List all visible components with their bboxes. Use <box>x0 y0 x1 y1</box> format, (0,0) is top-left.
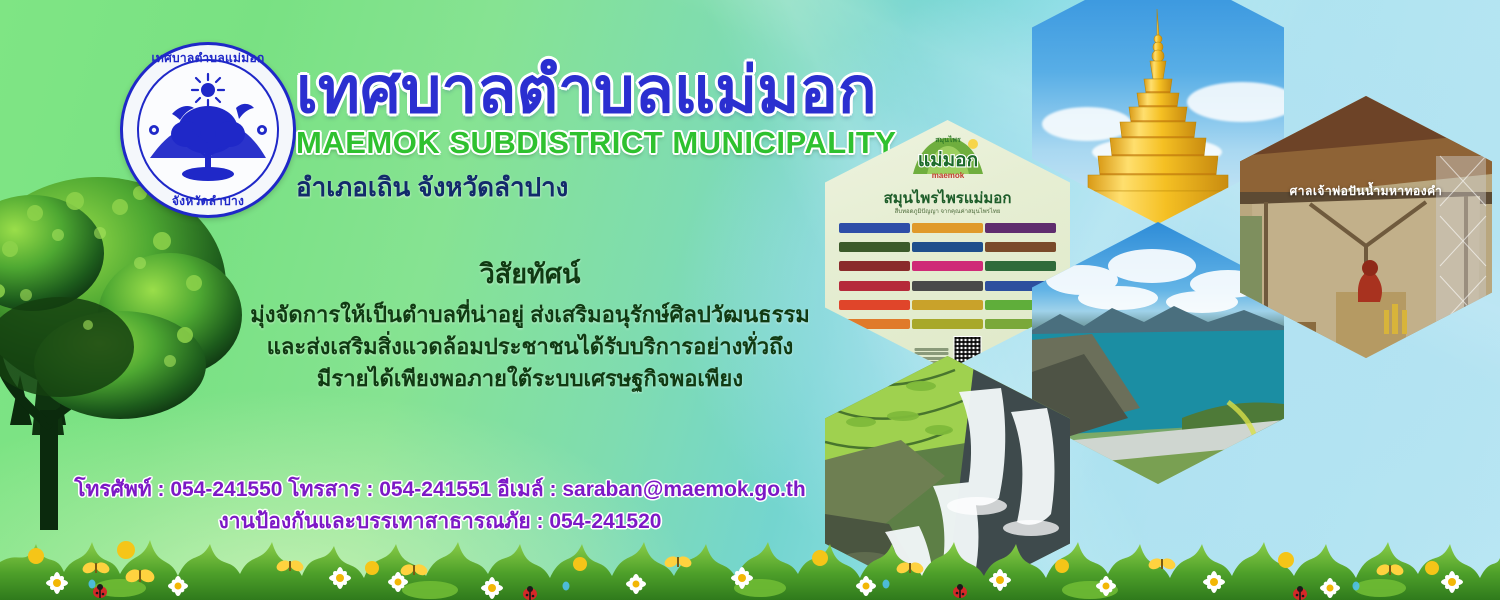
seal-top-text: เทศบาลตำบลแม่มอก <box>120 49 296 68</box>
herb-poster-subheading: สืบทอดภูมิปัญญา จากคุณค่าสมุนไพรไทย <box>825 206 1070 216</box>
vision-line-1: มุ่งจัดการให้เป็นตำบลที่น่าอยู่ ส่งเสริม… <box>200 299 860 331</box>
svg-text:แม่มอก: แม่มอก <box>917 150 977 171</box>
vision-statement: วิสัยทัศน์ มุ่งจัดการให้เป็นตำบลที่น่าอย… <box>200 252 860 395</box>
herb-brand-logo-icon: สมุนไพร แม่มอก maemok <box>893 130 1003 188</box>
municipality-banner: เทศบาลตำบลแม่มอก จังหวัดลำปาง <box>0 0 1500 600</box>
svg-text:maemok: maemok <box>931 171 964 180</box>
vision-line-3: มีรายได้เพียงพอภายใต้ระบบเศรษฐกิจพอเพียง <box>200 363 860 395</box>
contact-line-phone-fax-email[interactable]: โทรศัพท์ : 054-241550 โทรสาร : 054-24155… <box>60 474 820 506</box>
seal-emblem-art <box>146 72 270 188</box>
hexagon-photo-cluster: สมุนไพร แม่มอก maemok สมุนไพรไพรแม่มอก ส… <box>800 0 1500 600</box>
shrine-sign-text: ศาลเจ้าพ่อปันน้ำมหาทองคำ <box>1240 182 1492 201</box>
vision-label: วิสัยทัศน์ <box>200 252 860 295</box>
seal-bottom-text: จังหวัดลำปาง <box>120 192 296 211</box>
herb-product-grid <box>839 220 1056 332</box>
vision-line-2: และส่งเสริมสิ่งแวดล้อมประชาชนได้รับบริกา… <box>200 331 860 363</box>
golden-chedi-icon <box>1078 9 1238 224</box>
qr-code-icon <box>953 336 981 364</box>
svg-text:สมุนไพร: สมุนไพร <box>935 135 961 144</box>
municipality-seal-logo: เทศบาลตำบลแม่มอก จังหวัดลำปาง <box>120 42 296 218</box>
grass-flower-border <box>0 528 1500 600</box>
